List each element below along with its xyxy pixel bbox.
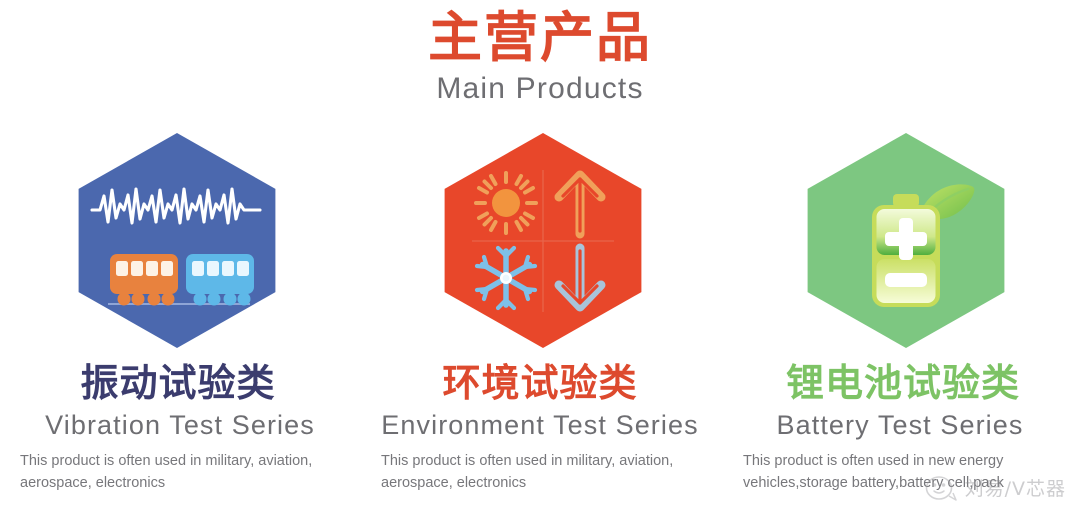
main-products-slide: 主营产品 Main Products	[0, 0, 1080, 524]
page-title-cn: 主营产品	[0, 8, 1080, 68]
train-car-rear	[186, 254, 254, 306]
environment-title-en: Environment Test Series	[381, 410, 698, 441]
page-title-en: Main Products	[0, 72, 1080, 106]
waveform-icon	[92, 189, 260, 223]
product-card-vibration[interactable]: 振动试验类 Vibration Test Series This product…	[0, 133, 360, 524]
climate-quadrant-icon	[441, 133, 646, 348]
arrow-down-icon	[559, 248, 601, 307]
battery-title-cn: 锂电池试验类	[786, 362, 1020, 406]
arrow-up-icon	[559, 175, 601, 234]
waveform-train-icon	[75, 133, 280, 348]
environment-description: This product is often used in military, …	[381, 450, 699, 495]
waveform-train-svg	[90, 166, 265, 316]
battery-icon-hexagon	[804, 133, 1009, 348]
product-card-battery[interactable]: 锂电池试验类 Battery Test Series This product …	[720, 133, 1080, 524]
train-car-front	[110, 254, 178, 306]
vibration-icon-hexagon	[75, 133, 280, 348]
battery-title-en: Battery Test Series	[777, 410, 1024, 441]
vibration-title-en: Vibration Test Series	[45, 410, 315, 441]
snowflake-icon	[477, 248, 535, 308]
product-card-environment[interactable]: 环境试验类 Environment Test Series This produ…	[360, 133, 720, 524]
battery-description: This product is often used in new energy…	[743, 450, 1065, 495]
battery-leaf-svg	[831, 163, 981, 318]
vibration-description: This product is often used in military, …	[20, 450, 338, 495]
environment-icon-hexagon	[441, 133, 646, 348]
page-header: 主营产品 Main Products	[0, 8, 1080, 106]
environment-title-cn: 环境试验类	[442, 362, 637, 406]
climate-quadrant-svg	[468, 166, 618, 316]
product-columns: 振动试验类 Vibration Test Series This product…	[0, 133, 1080, 524]
vibration-title-cn: 振动试验类	[80, 362, 275, 406]
sun-icon	[476, 173, 536, 233]
battery-leaf-icon	[804, 133, 1009, 348]
battery-minus-symbol	[885, 273, 927, 287]
